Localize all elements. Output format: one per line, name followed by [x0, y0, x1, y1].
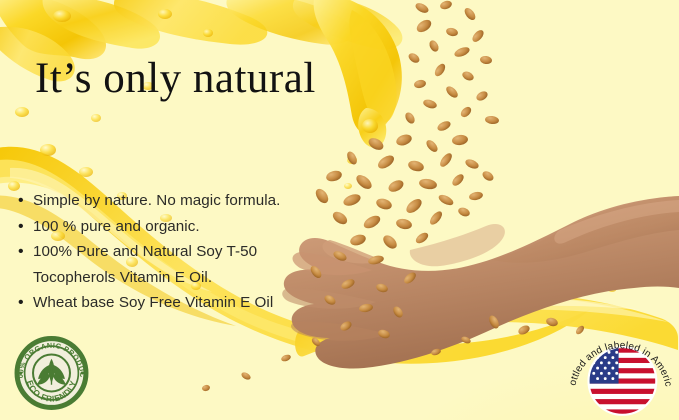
list-item: • 100 % pure and organic.	[18, 214, 378, 240]
list-item-label: 100 % pure and organic.	[33, 214, 378, 240]
bullet-marker-icon: •	[18, 214, 33, 240]
list-item-label: Wheat base Soy Free Vitamin E Oil	[33, 290, 378, 316]
list-item-label: Simple by nature. No magic formula.	[33, 188, 378, 214]
list-item-label: 100% Pure and Natural Soy T-50	[33, 239, 378, 265]
list-item-label-continued: Tocopherols Vitamin E Oil.	[33, 265, 378, 291]
bullet-marker-icon: •	[18, 188, 33, 214]
list-item-continuation: Tocopherols Vitamin E Oil.	[18, 265, 378, 291]
made-in-america-badge: Bottled and labeled in America	[568, 321, 673, 418]
product-banner: It’s only natural • Simple by nature. No…	[0, 0, 679, 420]
feature-list: • Simple by nature. No magic formula. • …	[18, 188, 378, 316]
page-title: It’s only natural	[35, 56, 316, 101]
bullet-marker-icon: •	[18, 290, 33, 316]
list-item: • 100% Pure and Natural Soy T-50	[18, 239, 378, 265]
list-item: • Wheat base Soy Free Vitamin E Oil	[18, 290, 378, 316]
organic-product-badge: 100% ORGANIC PRODUCT ECO FRIENDLY	[7, 331, 96, 415]
list-item: • Simple by nature. No magic formula.	[18, 188, 378, 214]
bullet-marker-icon: •	[18, 239, 33, 265]
